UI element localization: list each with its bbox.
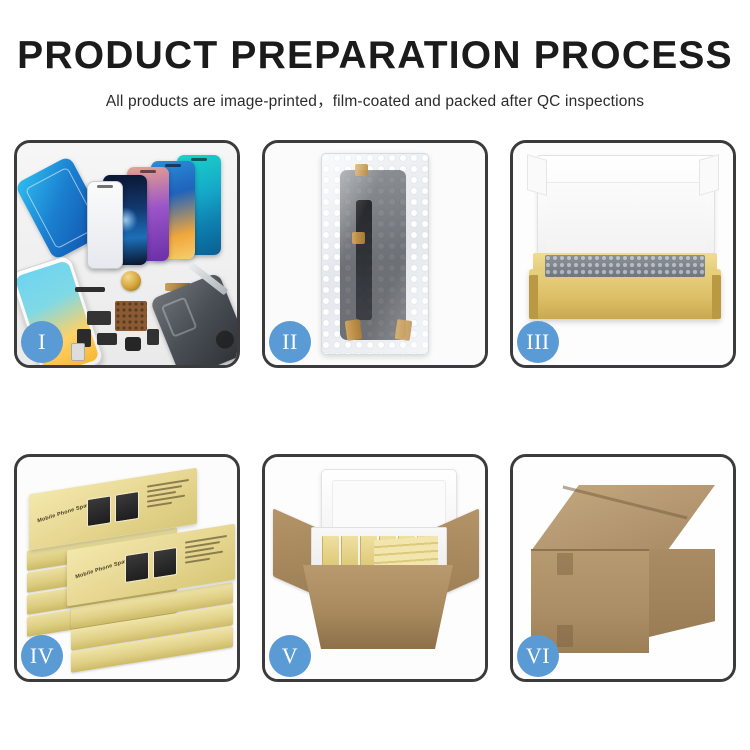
lid-phone-image xyxy=(153,547,177,579)
process-step-1[interactable]: I xyxy=(14,140,240,368)
process-step-6[interactable]: VI xyxy=(510,454,736,682)
lid-phone-image xyxy=(125,551,149,583)
sim-tray xyxy=(71,343,85,361)
plastic-sheen xyxy=(322,154,428,354)
foam-flap-left xyxy=(527,154,547,196)
connector-d xyxy=(87,311,111,325)
lid-text-lines xyxy=(185,535,227,574)
speaker-module xyxy=(125,337,141,351)
screen-protector-glass xyxy=(87,181,123,269)
step-badge-5: V xyxy=(269,635,311,677)
step-badge-3: III xyxy=(517,321,559,363)
lid-phone-image xyxy=(87,495,111,527)
process-step-4[interactable]: Mobile Phone Spare Parts Mobile Phone Sp… xyxy=(14,454,240,682)
connector-f xyxy=(97,333,117,345)
phone-fan-group xyxy=(93,155,237,267)
carton-body xyxy=(303,565,453,649)
box-stack: Mobile Phone Spare Parts Mobile Phone Sp… xyxy=(27,475,233,665)
infographic-page: PRODUCT PREPARATION PROCESS All products… xyxy=(0,0,750,750)
tray-end-right xyxy=(712,275,721,319)
carton-top-edge xyxy=(531,549,649,551)
step-badge-2: II xyxy=(269,321,311,363)
carton-tab-lower xyxy=(557,625,573,647)
page-title: PRODUCT PREPARATION PROCESS xyxy=(0,36,750,77)
kraft-box-tray xyxy=(529,269,721,319)
process-step-5[interactable]: V xyxy=(262,454,488,682)
process-step-2[interactable]: II xyxy=(262,140,488,368)
bubble-wrap-bag xyxy=(321,153,429,355)
page-subtitle: All products are image-printed，film-coat… xyxy=(0,89,750,111)
process-grid: I II xyxy=(14,140,736,682)
process-step-3[interactable]: III xyxy=(510,140,736,368)
connector-h xyxy=(147,329,159,345)
flex-cable-a xyxy=(75,287,105,292)
notch-icon xyxy=(165,164,181,167)
notch-icon xyxy=(140,170,156,173)
lid-phone-image xyxy=(115,491,139,523)
step-badge-6: VI xyxy=(517,635,559,677)
tray-end-left xyxy=(529,275,538,319)
lid-text-lines xyxy=(147,479,189,518)
grey-bubble-contents xyxy=(545,255,705,277)
carton-tab-upper xyxy=(557,553,573,575)
chip-grid-icon xyxy=(115,301,147,331)
step-badge-1: I xyxy=(21,321,63,363)
header: PRODUCT PREPARATION PROCESS All products… xyxy=(0,0,750,111)
foam-flap-right xyxy=(699,154,719,196)
notch-icon xyxy=(97,185,113,188)
notch-icon xyxy=(191,158,207,161)
coil-icon xyxy=(121,271,141,291)
step-badge-4: IV xyxy=(21,635,63,677)
